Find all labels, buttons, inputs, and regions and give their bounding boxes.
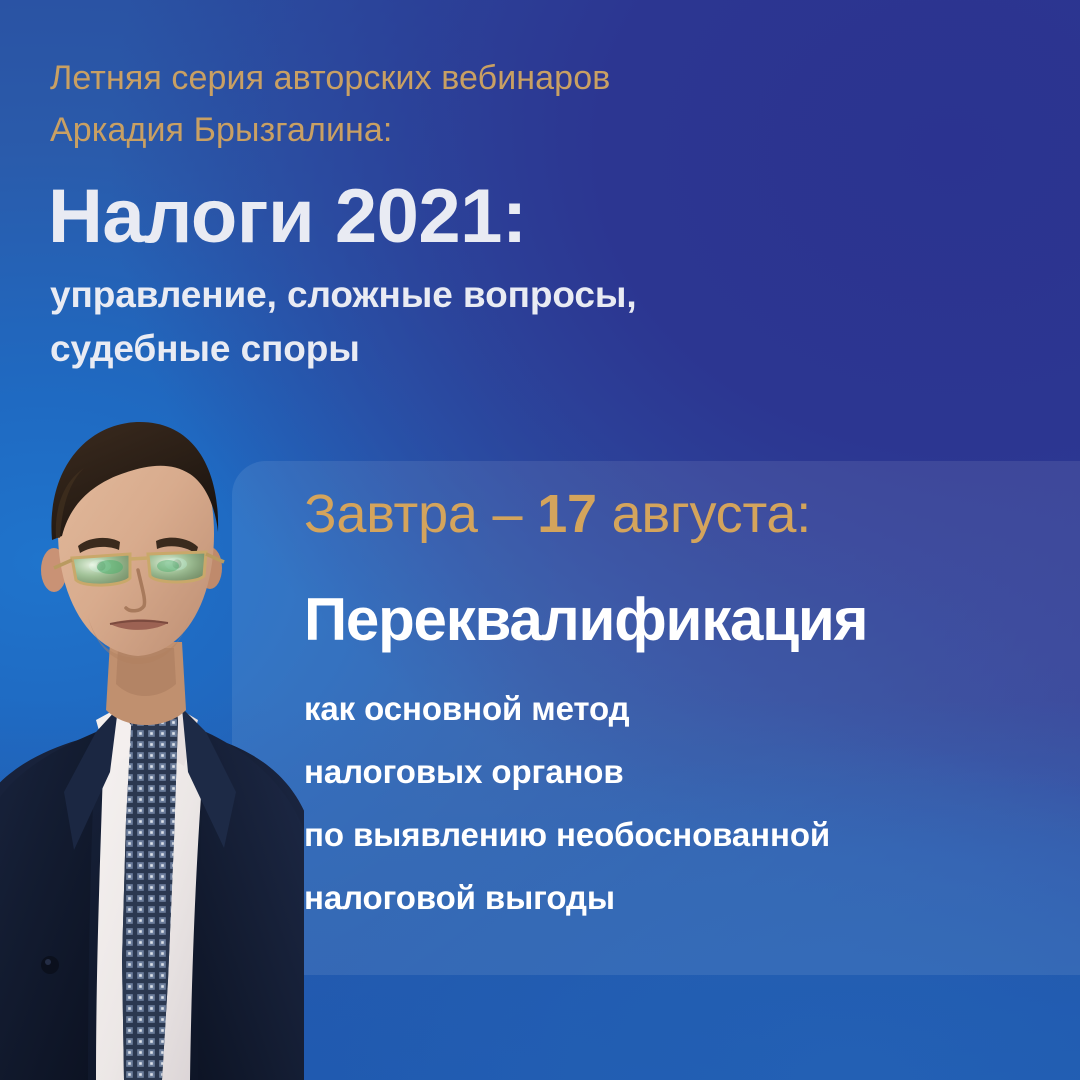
page-title: Налоги 2021: [48,175,527,259]
date-suffix-text: августа: [597,484,811,544]
poster-canvas: Летняя серия авторских вебинаров Аркадия… [0,0,1080,1080]
description-line: как основной метод [304,677,1064,740]
description-line: по выявлению необоснованной [304,803,1064,866]
webinar-topic-description: как основной метод налоговых органов по … [304,677,1064,929]
page-subtitle: управление, сложные вопросы, судебные сп… [50,268,870,376]
date-prefix-text: Завтра – [304,484,537,544]
webinar-info-panel: Завтра – 17 августа: Переквалификация ка… [232,461,1080,975]
description-line: налоговых органов [304,740,1064,803]
description-line: налоговой выгоды [304,866,1064,929]
webinar-topic-headline: Переквалификация [304,585,867,655]
date-day-number: 17 [537,484,597,544]
webinar-date-heading: Завтра – 17 августа: [304,483,811,545]
series-eyebrow-text: Летняя серия авторских вебинаров Аркадия… [50,52,850,156]
